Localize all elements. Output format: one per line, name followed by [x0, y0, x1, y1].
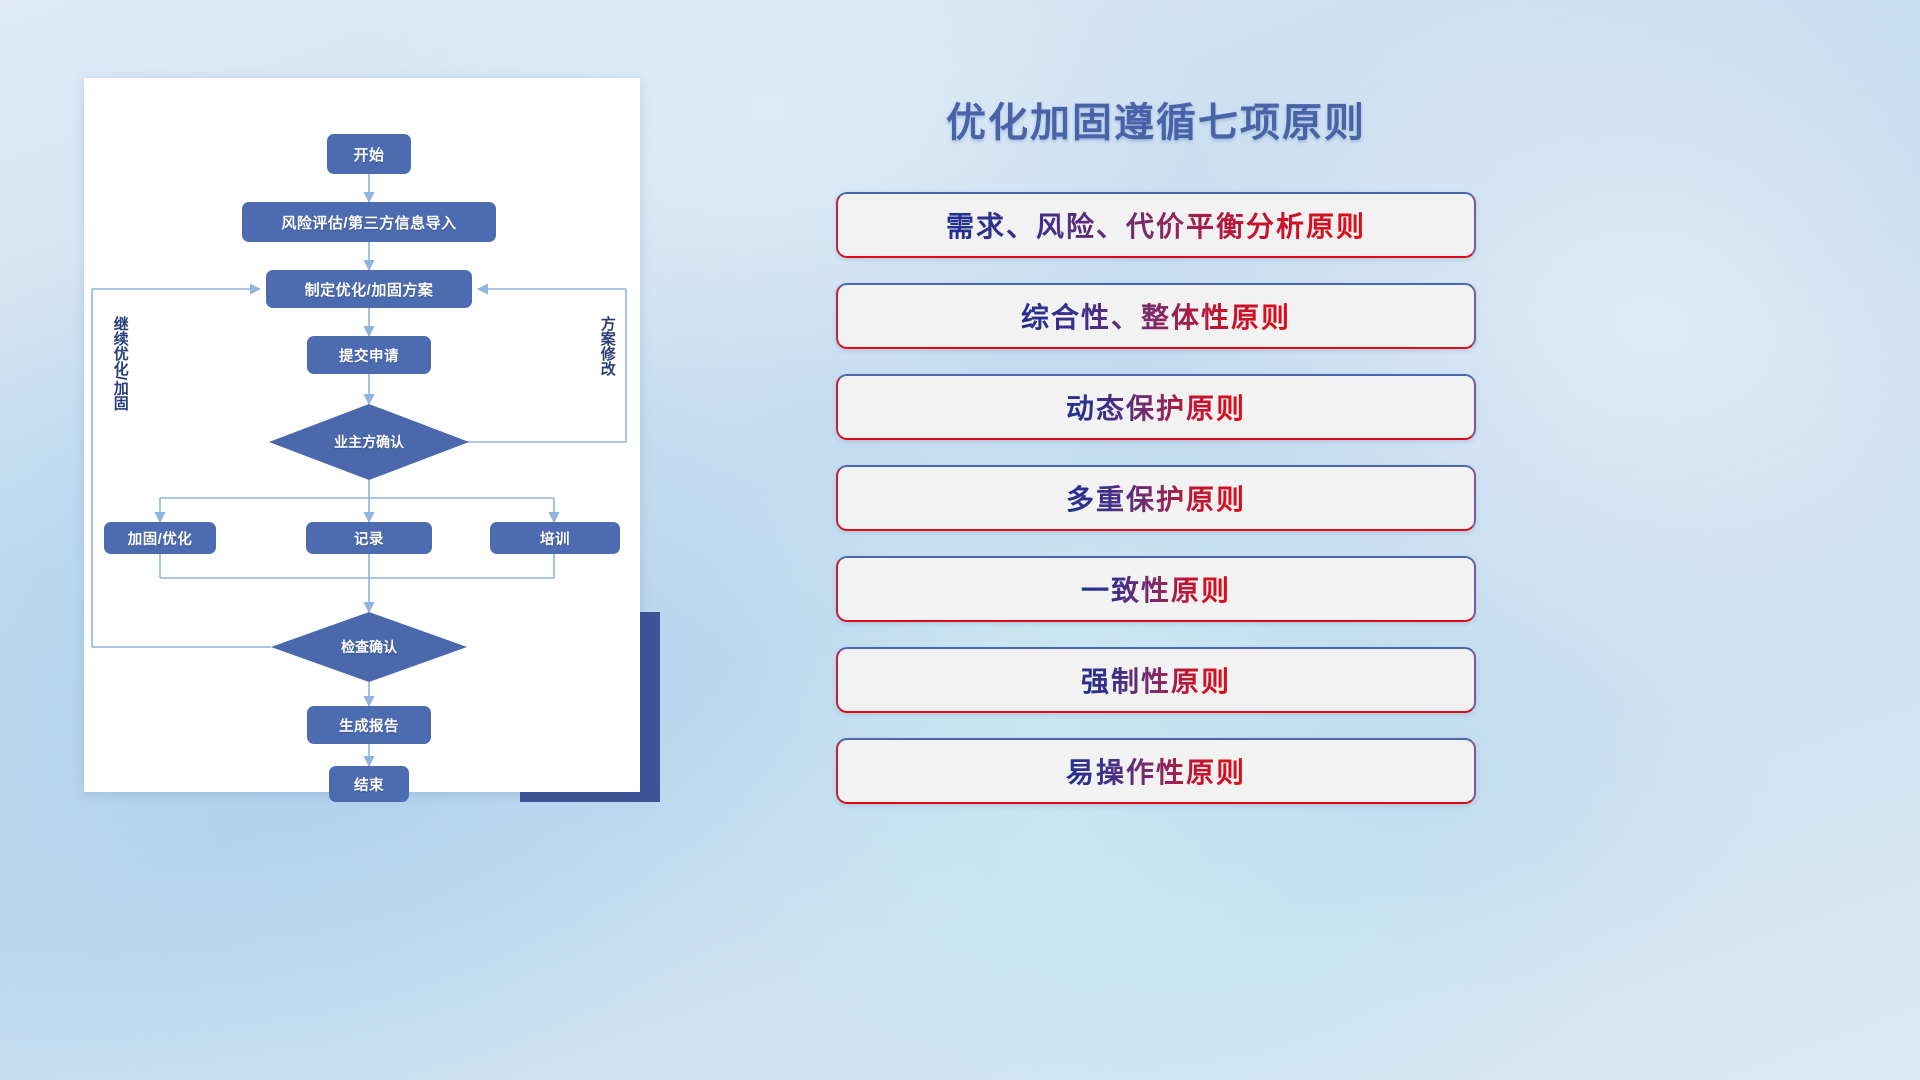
flow-node-make-plan-label: 制定优化/加固方案 — [305, 279, 434, 300]
principle-label: 易操作性原则 — [1066, 751, 1246, 791]
principle-item[interactable]: 易操作性原则 — [836, 738, 1476, 804]
principle-item[interactable]: 多重保护原则 — [836, 465, 1476, 531]
flow-node-generate-report-label: 生成报告 — [339, 715, 399, 736]
edge-label-plan-revision: 方案修改 — [599, 316, 615, 376]
principle-label: 多重保护原则 — [1066, 478, 1246, 518]
flow-node-record[interactable]: 记录 — [306, 522, 432, 554]
principle-item[interactable]: 需求、风险、代价平衡分析原则 — [836, 192, 1476, 258]
flow-node-training[interactable]: 培训 — [490, 522, 620, 554]
principle-item[interactable]: 综合性、整体性原则 — [836, 283, 1476, 349]
edge-label-continue-optimize: 继续优化/加固 — [112, 316, 128, 410]
flow-node-reinforce-optimize[interactable]: 加固/优化 — [104, 522, 216, 554]
flow-node-make-plan[interactable]: 制定优化/加固方案 — [266, 270, 472, 308]
flow-node-owner-confirm[interactable]: 业主方确认 — [269, 404, 469, 480]
flow-node-generate-report[interactable]: 生成报告 — [307, 706, 431, 744]
principle-label: 一致性原则 — [1081, 569, 1231, 609]
flow-node-end[interactable]: 结束 — [329, 766, 409, 802]
flowchart-card: 开始 风险评估/第三方信息导入 制定优化/加固方案 提交申请 业主方确认 加固/… — [84, 78, 640, 792]
principle-item[interactable]: 一致性原则 — [836, 556, 1476, 622]
flow-node-check-confirm[interactable]: 检查确认 — [271, 612, 467, 682]
flow-node-risk-assessment[interactable]: 风险评估/第三方信息导入 — [242, 202, 496, 242]
flowchart: 开始 风险评估/第三方信息导入 制定优化/加固方案 提交申请 业主方确认 加固/… — [84, 78, 640, 792]
flow-node-risk-assessment-label: 风险评估/第三方信息导入 — [281, 212, 456, 233]
principle-item[interactable]: 强制性原则 — [836, 647, 1476, 713]
flow-node-training-label: 培训 — [540, 528, 570, 549]
principle-label: 综合性、整体性原则 — [1021, 296, 1291, 336]
principles-panel: 优化加固遵循七项原则 需求、风险、代价平衡分析原则 综合性、整体性原则 动态保护… — [836, 72, 1856, 1022]
panel-title: 优化加固遵循七项原则 — [836, 90, 1476, 148]
flow-node-record-label: 记录 — [354, 528, 384, 549]
flow-node-submit-application-label: 提交申请 — [339, 345, 399, 366]
principle-item[interactable]: 动态保护原则 — [836, 374, 1476, 440]
flow-node-check-confirm-label: 检查确认 — [341, 637, 397, 657]
flow-node-start[interactable]: 开始 — [327, 134, 411, 174]
principle-label: 需求、风险、代价平衡分析原则 — [946, 205, 1366, 245]
principle-label: 强制性原则 — [1081, 660, 1231, 700]
principle-label: 动态保护原则 — [1066, 387, 1246, 427]
flow-node-reinforce-optimize-label: 加固/优化 — [128, 528, 193, 549]
flow-node-owner-confirm-label: 业主方确认 — [334, 432, 404, 452]
flow-node-start-label: 开始 — [353, 144, 384, 165]
flow-node-submit-application[interactable]: 提交申请 — [307, 336, 431, 374]
principles-list: 需求、风险、代价平衡分析原则 综合性、整体性原则 动态保护原则 多重保护原则 一… — [836, 192, 1476, 829]
flow-node-end-label: 结束 — [354, 774, 384, 795]
